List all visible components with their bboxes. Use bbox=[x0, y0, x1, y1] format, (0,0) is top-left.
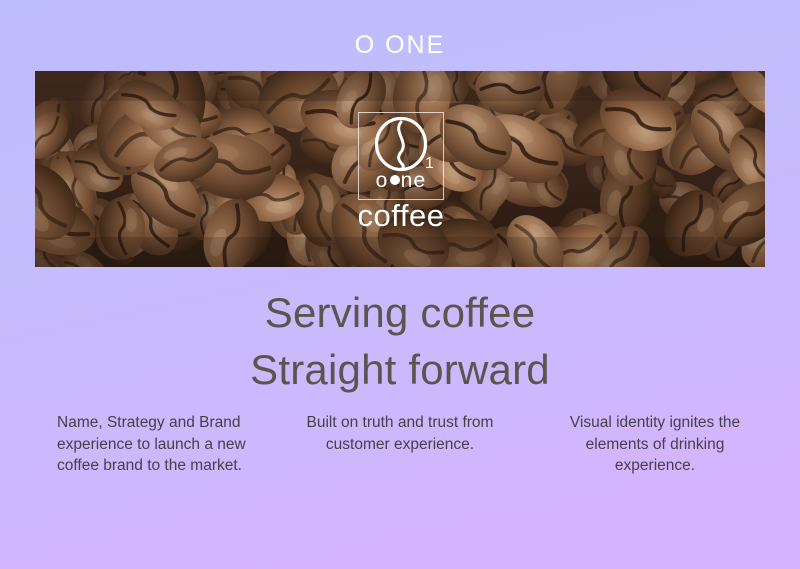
logo-name-prefix: o bbox=[376, 169, 389, 192]
supporting-columns: Name, Strategy and Brand experience to l… bbox=[35, 412, 765, 477]
logo-product-word: coffee bbox=[331, 200, 471, 231]
brand-logo-lockup: 1 one coffee bbox=[335, 100, 467, 240]
headline: Serving coffee Straight forward bbox=[0, 284, 800, 398]
logo-name-one: one bbox=[358, 170, 444, 191]
column-text-1: Name, Strategy and Brand experience to l… bbox=[35, 412, 255, 477]
headline-line-2: Straight forward bbox=[0, 341, 800, 398]
column-text-2: Built on truth and trust from customer e… bbox=[290, 412, 510, 455]
logo-dot-icon bbox=[390, 175, 400, 185]
headline-line-1: Serving coffee bbox=[0, 284, 800, 341]
logo-name-suffix: ne bbox=[401, 169, 427, 192]
column-text-3: Visual identity ignites the elements of … bbox=[545, 412, 765, 477]
brand-wordmark: O ONE bbox=[0, 33, 800, 58]
slide-canvas: O ONE bbox=[0, 0, 800, 569]
